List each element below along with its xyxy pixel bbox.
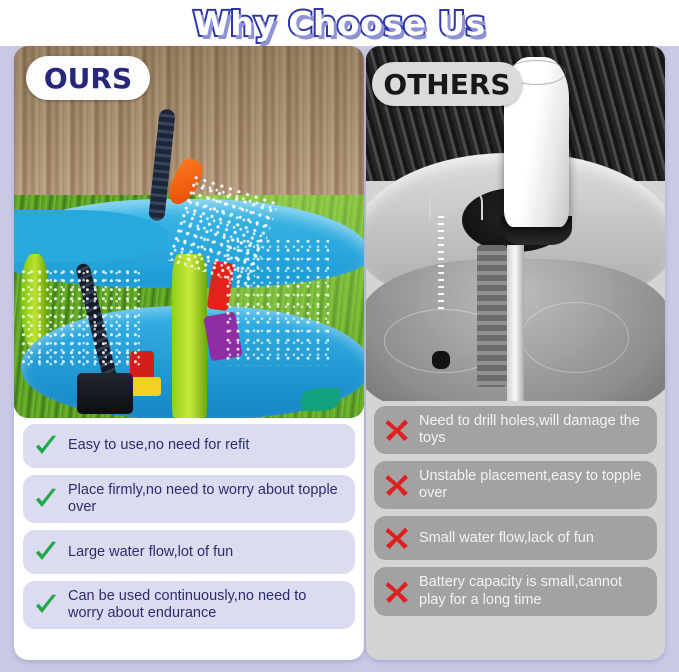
ours-panel: OURS Easy to use,no need for refit Place…	[14, 46, 364, 660]
debris-in-water	[432, 351, 450, 369]
cross-icon	[384, 579, 410, 605]
ours-badge: OURS	[26, 56, 150, 100]
water-spray-left	[21, 269, 140, 366]
list-item: Place firmly,no need to worry about topp…	[23, 475, 355, 523]
list-item-label: Small water flow,lack of fun	[419, 530, 594, 547]
check-icon	[33, 486, 59, 512]
list-item: Need to drill holes,will damage the toys	[374, 406, 657, 454]
list-item-label: Large water flow,lot of fun	[68, 544, 233, 561]
comparison-panels: OURS Easy to use,no need for refit Place…	[0, 46, 679, 672]
others-drawback-list: Need to drill holes,will damage the toys…	[366, 406, 665, 623]
check-icon	[33, 433, 59, 459]
cross-icon	[384, 525, 410, 551]
cross-icon	[384, 472, 410, 498]
others-photo: OTHERS	[366, 46, 665, 401]
ours-photo: OURS	[14, 46, 364, 418]
page-header: Why Choose Us	[0, 0, 679, 46]
teal-toy-fish	[301, 388, 340, 410]
list-item-label: Need to drill holes,will damage the toys	[419, 413, 647, 447]
list-item: Small water flow,lack of fun	[374, 516, 657, 560]
list-item: Easy to use,no need for refit	[23, 424, 355, 468]
list-item: Unstable placement,easy to topple over	[374, 461, 657, 509]
comparison-infographic: Why Choose Us	[0, 0, 679, 672]
list-item: Can be used continuously,no need to worr…	[23, 581, 355, 629]
list-item-label: Unstable placement,easy to topple over	[419, 468, 647, 502]
pump-tube	[507, 245, 525, 401]
water-spray-right	[224, 239, 329, 365]
list-item-label: Place firmly,no need to worry about topp…	[68, 482, 345, 516]
black-water-pump	[77, 373, 133, 414]
water-drip	[438, 216, 444, 308]
wire-handle	[429, 184, 483, 220]
list-item-label: Can be used continuously,no need to worr…	[68, 588, 345, 622]
check-icon	[33, 592, 59, 618]
water-ripple-right	[521, 302, 629, 373]
green-support-column	[172, 254, 207, 418]
list-item-label: Easy to use,no need for refit	[68, 437, 249, 454]
others-badge: OTHERS	[372, 62, 522, 106]
basin-stem	[477, 245, 507, 387]
list-item: Large water flow,lot of fun	[23, 530, 355, 574]
list-item-label: Battery capacity is small,cannot play fo…	[419, 574, 647, 608]
cross-icon	[384, 417, 410, 443]
page-title: Why Choose Us	[193, 4, 485, 43]
others-panel: OTHERS Need to drill holes,will damage t…	[366, 46, 665, 660]
others-badge-label: OTHERS	[383, 68, 510, 101]
list-item: Battery capacity is small,cannot play fo…	[374, 567, 657, 615]
check-icon	[33, 539, 59, 565]
ours-badge-label: OURS	[44, 62, 132, 95]
ours-feature-list: Easy to use,no need for refit Place firm…	[14, 424, 364, 636]
